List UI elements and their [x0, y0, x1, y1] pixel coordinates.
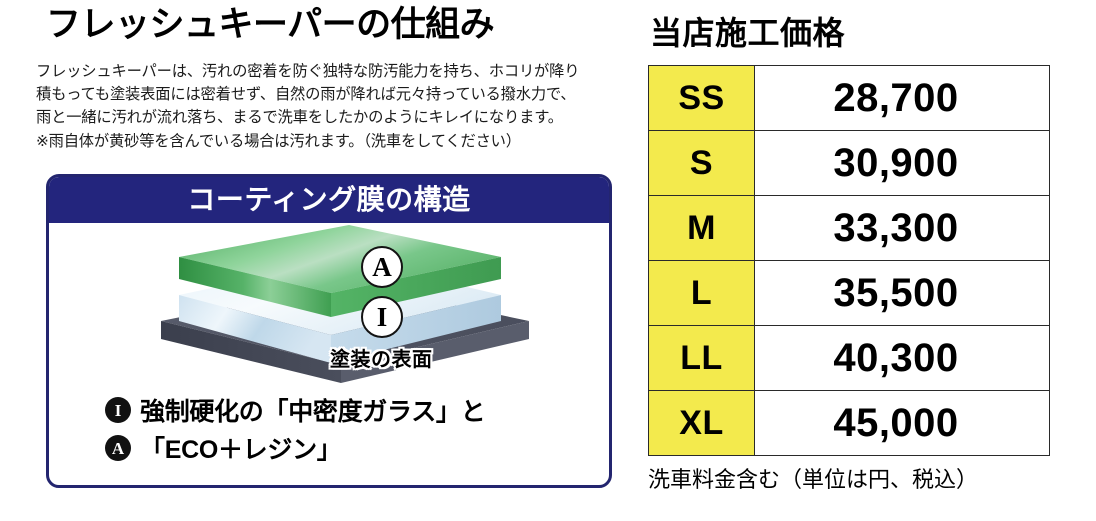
price-cell: 33,300 [755, 196, 1050, 261]
structure-legend: I 強制硬化の「中密度ガラス」と A 「ECO＋レジン」 [105, 391, 605, 467]
legend-text-i: 強制硬化の「中密度ガラス」と [140, 392, 485, 428]
price-cell: 45,000 [755, 391, 1050, 456]
intro-line-4: ※雨自体が黄砂等を含んでいる場合は汚れます。（洗車をしてください） [36, 130, 632, 153]
size-cell: L [649, 261, 755, 326]
price-cell: 40,300 [755, 326, 1050, 391]
surface-label: 塗装の表面 [330, 343, 433, 372]
table-row: M 33,300 [649, 196, 1050, 261]
table-row: S 30,900 [649, 131, 1050, 196]
price-cell: 35,500 [755, 261, 1050, 326]
size-cell: M [649, 196, 755, 261]
table-row: XL 45,000 [649, 391, 1050, 456]
size-cell: SS [649, 66, 755, 131]
table-row: LL 40,300 [649, 326, 1050, 391]
price-table-heading: 当店施工価格 [650, 8, 845, 54]
legend-badge-i: I [105, 397, 131, 423]
legend-badge-a: A [105, 435, 131, 461]
size-cell: XL [649, 391, 755, 456]
intro-line-1: フレッシュキーパーは、汚れの密着を防ぐ独特な防汚能力を持ち、ホコリが降り [36, 60, 632, 83]
callout-badge-a: A [361, 246, 403, 288]
panel-header-label: コーティング膜の構造 [187, 186, 470, 214]
intro-line-3: 雨と一緒に汚れが流れ落ち、まるで洗車をしたかのようにキレイになります。 [36, 106, 632, 129]
left-column: フレッシュキーパーの仕組み フレッシュキーパーは、汚れの密着を防ぐ独特な防汚能力… [0, 0, 640, 521]
table-row: SS 28,700 [649, 66, 1050, 131]
price-note: 洗車料金含む（単位は円、税込） [648, 462, 978, 494]
legend-item: A 「ECO＋レジン」 [105, 429, 605, 467]
intro-paragraph: フレッシュキーパーは、汚れの密着を防ぐ独特な防汚能力を持ち、ホコリが降り 積もっ… [36, 60, 632, 153]
right-column: 当店施工価格 SS 28,700 S 30,900 M 33,300 L 35,… [640, 0, 1096, 521]
legend-item: I 強制硬化の「中密度ガラス」と [105, 391, 605, 429]
callout-badge-i: I [361, 296, 403, 338]
panel-body: A I 塗装の表面 I 強制硬化の「中密度ガラス」と A 「ECO＋レジン」 [49, 223, 609, 485]
price-cell: 30,900 [755, 131, 1050, 196]
table-row: L 35,500 [649, 261, 1050, 326]
intro-line-2: 積もっても塗装表面には密着せず、自然の雨が降れば元々持っている撥水力で、 [36, 83, 632, 106]
legend-text-a: 「ECO＋レジン」 [140, 430, 341, 466]
size-cell: LL [649, 326, 755, 391]
page-title: フレッシュキーパーの仕組み [46, 7, 494, 44]
coating-structure-panel: コーティング膜の構造 [46, 174, 612, 488]
coating-layers-diagram [49, 225, 609, 385]
panel-header: コーティング膜の構造 [49, 177, 609, 223]
price-table: SS 28,700 S 30,900 M 33,300 L 35,500 LL … [648, 65, 1050, 456]
price-cell: 28,700 [755, 66, 1050, 131]
size-cell: S [649, 131, 755, 196]
